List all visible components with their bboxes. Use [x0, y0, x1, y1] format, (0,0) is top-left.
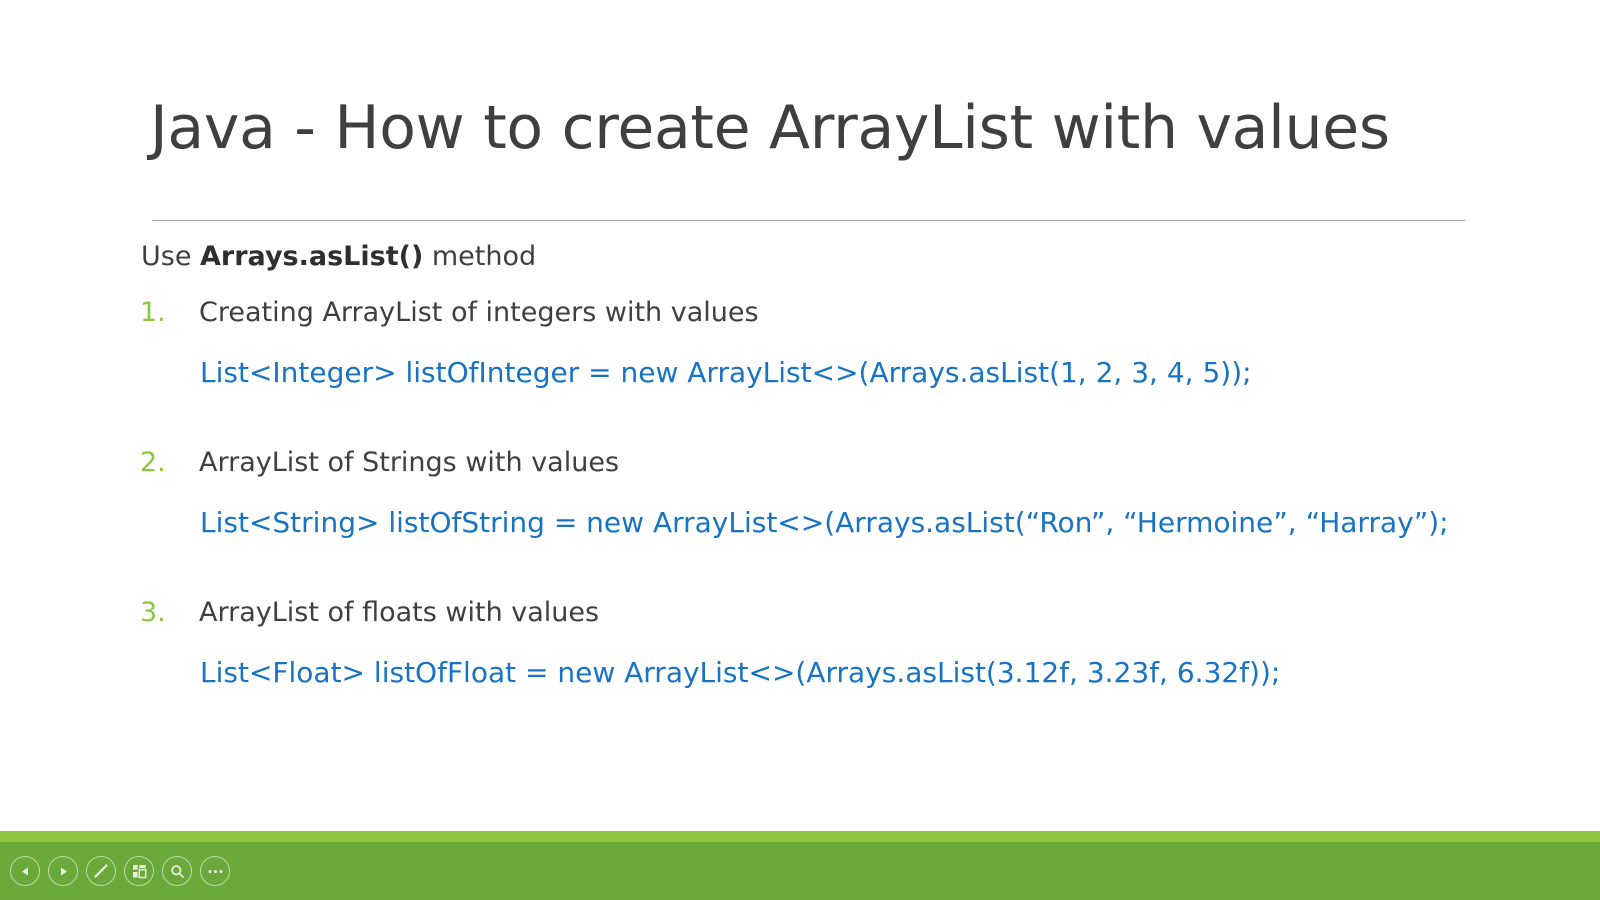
code-snippet: List<String> listOfString = new ArrayLis…: [200, 501, 1540, 545]
step-number: 3.: [140, 591, 199, 635]
next-slide-button[interactable]: [48, 856, 78, 886]
zoom-button[interactable]: [162, 856, 192, 886]
triangle-left-icon: [19, 865, 32, 878]
spacer: [140, 399, 1540, 441]
page-title: Java - How to create ArrayList with valu…: [150, 82, 1470, 174]
intro-line: Use Arrays.asList() method: [141, 236, 1540, 278]
more-options-button[interactable]: [200, 856, 230, 886]
slide-body: Use Arrays.asList() method 1. Creating A…: [140, 236, 1540, 699]
slide-layout-button[interactable]: [124, 856, 154, 886]
triangle-right-icon: [57, 865, 70, 878]
presentation-slide: Java - How to create ArrayList with valu…: [0, 0, 1600, 900]
code-snippet: List<Float> listOfFloat = new ArrayList<…: [200, 651, 1540, 695]
grid-layout-icon: [131, 863, 148, 880]
list-item: 3. ArrayList of floats with values List<…: [140, 591, 1540, 695]
pen-tool-button[interactable]: [86, 856, 116, 886]
presentation-toolbar: [0, 842, 1600, 900]
magnifier-icon: [169, 863, 186, 880]
pen-icon: [92, 862, 110, 880]
step-label: ArrayList of Strings with values: [199, 441, 619, 485]
intro-prefix: Use: [141, 241, 200, 272]
list-item: 2. ArrayList of Strings with values List…: [140, 441, 1540, 545]
list-item: 1. Creating ArrayList of integers with v…: [140, 291, 1540, 395]
step-label: ArrayList of floats with values: [199, 591, 599, 635]
code-snippet: List<Integer> listOfInteger = new ArrayL…: [200, 351, 1540, 395]
step-label: Creating ArrayList of integers with valu…: [199, 291, 759, 335]
step-heading: 3. ArrayList of floats with values: [140, 591, 1540, 635]
step-heading: 1. Creating ArrayList of integers with v…: [140, 291, 1540, 335]
spacer: [140, 549, 1540, 591]
title-divider: [152, 220, 1465, 221]
accent-strip: [0, 831, 1600, 842]
step-number: 2.: [140, 441, 199, 485]
step-number: 1.: [140, 291, 199, 335]
intro-method-name: Arrays.asList(): [200, 241, 423, 272]
step-heading: 2. ArrayList of Strings with values: [140, 441, 1540, 485]
ellipsis-icon: [207, 868, 224, 875]
intro-suffix: method: [423, 241, 536, 272]
previous-slide-button[interactable]: [10, 856, 40, 886]
